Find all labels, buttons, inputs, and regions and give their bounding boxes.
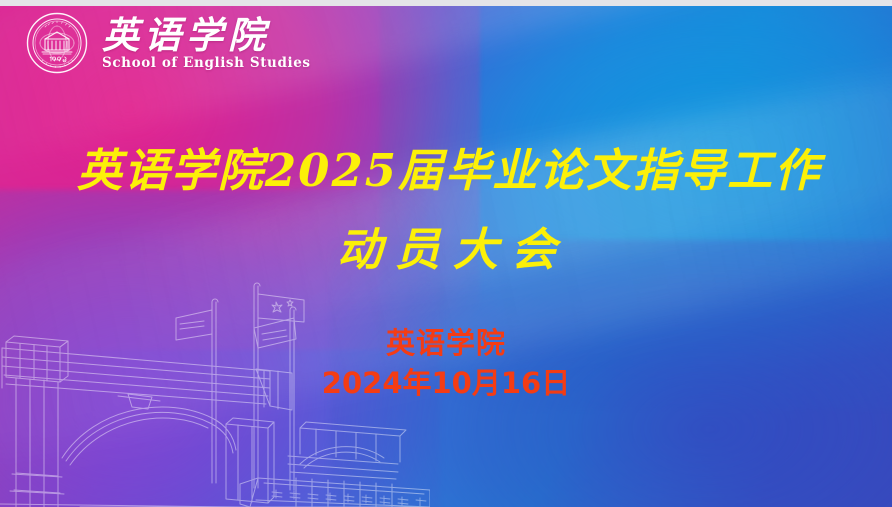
slide-subtitle: 英语学院 2024年10月16日 — [0, 326, 892, 400]
brand-name-cn: 英语学院 — [102, 15, 311, 55]
subtitle-date: 2024年10月16日 — [0, 366, 892, 400]
brand-lockup: 英语学院 School of English Studies — [26, 12, 311, 74]
top-edge-strip — [0, 0, 892, 6]
presentation-slide: 英语学院 School of English Studies 英语学院2025届… — [0, 0, 892, 507]
slide-title: 英语学院2025届毕业论文指导工作 动员大会 — [0, 148, 892, 272]
brand-text: 英语学院 School of English Studies — [102, 15, 311, 71]
subtitle-organization: 英语学院 — [0, 326, 892, 360]
title-line-2: 动员大会 — [0, 227, 892, 272]
school-seal-icon — [26, 12, 88, 74]
title-line-1: 英语学院2025届毕业论文指导工作 — [0, 148, 892, 193]
brand-name-en: School of English Studies — [102, 55, 311, 71]
